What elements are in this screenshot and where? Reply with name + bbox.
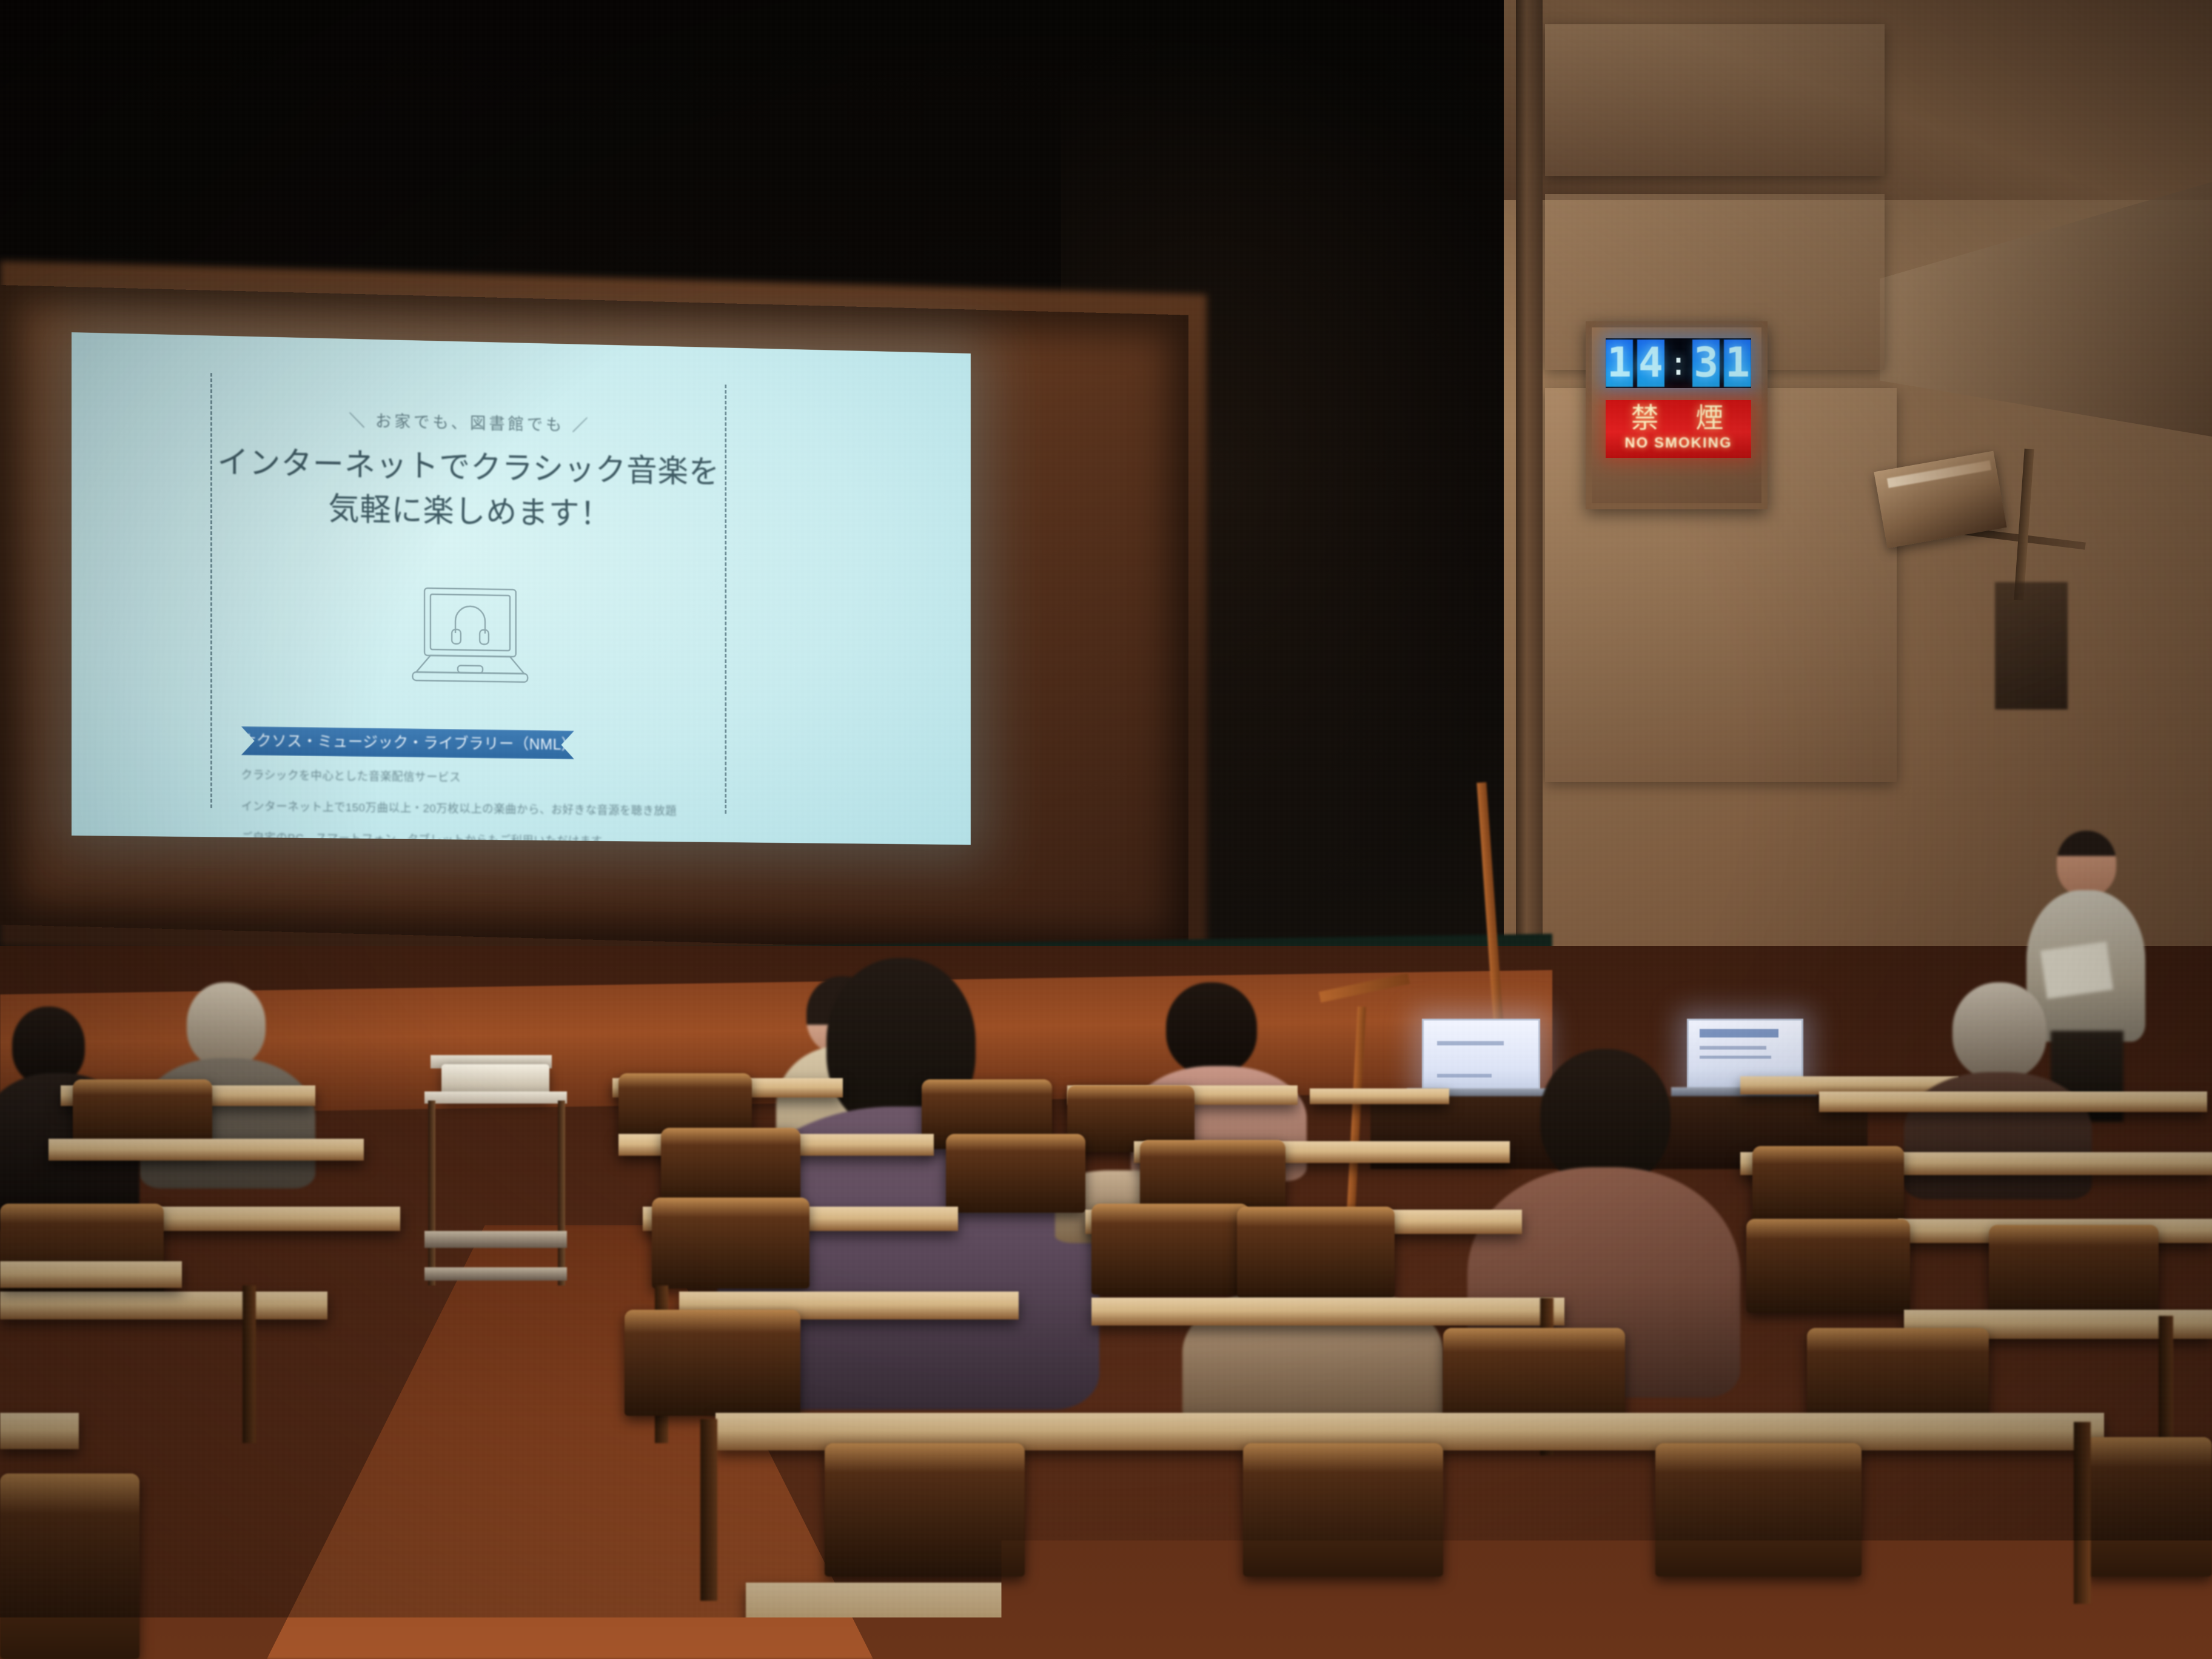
slide-kicker: ＼ お家でも、図書館でも ／ (212, 404, 725, 439)
chair (661, 1128, 800, 1207)
slide-bullet: クラシックを中心とした音楽配信サービス (241, 766, 716, 788)
desk (0, 1261, 182, 1288)
wall-panel-upper (1545, 24, 1885, 176)
no-smoking-english: NO SMOKING (1606, 435, 1751, 451)
chair (1746, 1219, 1910, 1313)
rear-desk-top-left (1310, 1088, 1449, 1104)
desk (0, 1292, 327, 1319)
chair (0, 1473, 139, 1659)
desk (1091, 1298, 1564, 1326)
chair (2086, 1437, 2212, 1577)
chair (1752, 1146, 1904, 1228)
slide-ribbon-label: ナクソス・ミュージック・ライブラリー（NML） (241, 726, 575, 760)
laptop-with-headphones-icon (396, 580, 545, 712)
desk-leg (2074, 1422, 2091, 1604)
slide-bullet-list: クラシックを中心とした音楽配信サービス インターネット上で150万曲以上・20万… (241, 766, 716, 845)
clock-digit: 1 (1606, 340, 1633, 387)
cart-post-right (558, 1101, 565, 1285)
chair (1655, 1443, 1862, 1577)
chair (1091, 1204, 1249, 1295)
desk (1819, 1091, 2207, 1112)
desk-leg (243, 1285, 256, 1443)
cart-lower-shelf (424, 1231, 567, 1248)
desk (49, 1139, 364, 1161)
chair (1237, 1207, 1395, 1298)
slide-dashed-frame: ＼ お家でも、図書館でも ／ インターネットでクラシック音楽を 気軽に楽しめます… (210, 373, 726, 814)
chair (652, 1198, 809, 1289)
lecture-hall-photo: ＼ お家でも、図書館でも ／ インターネットでクラシック音楽を 気軽に楽しめます… (0, 0, 2212, 1659)
cart-post-left (428, 1101, 435, 1285)
clock-digit: 1 (1724, 340, 1751, 387)
clock-separator: : (1669, 344, 1689, 383)
presenter-head (2057, 831, 2116, 896)
chair (625, 1310, 800, 1416)
projection-screen: ＼ お家でも、図書館でも ／ インターネットでクラシック音楽を 気軽に楽しめます… (72, 332, 971, 845)
clock-digit: 4 (1637, 340, 1664, 387)
clock-digit: 3 (1692, 340, 1720, 387)
chair (946, 1134, 1085, 1213)
desk (0, 1413, 79, 1449)
desk-bottom-shadow (1298, 1637, 1637, 1659)
no-smoking-sign: 禁 煙 NO SMOKING (1606, 400, 1751, 458)
chair (825, 1443, 1025, 1577)
wall-mount-plate (1995, 582, 2068, 709)
cart-base (424, 1267, 567, 1281)
projector-cart-shelf-top (424, 1091, 567, 1104)
slide-bullet: インターネット上で150万曲以上・20万枚以上の楽曲から、お好きな音源を聴き放題 (241, 797, 716, 819)
chair (1243, 1443, 1443, 1577)
slide-headline: インターネットでクラシック音楽を 気軽に楽しめます！ (200, 440, 736, 539)
desk (146, 1207, 400, 1231)
no-smoking-japanese: 禁 煙 (1606, 400, 1751, 435)
digital-clock: 1 4 : 3 1 (1606, 338, 1751, 388)
chair (1989, 1225, 2159, 1322)
desk-leg (700, 1419, 717, 1601)
